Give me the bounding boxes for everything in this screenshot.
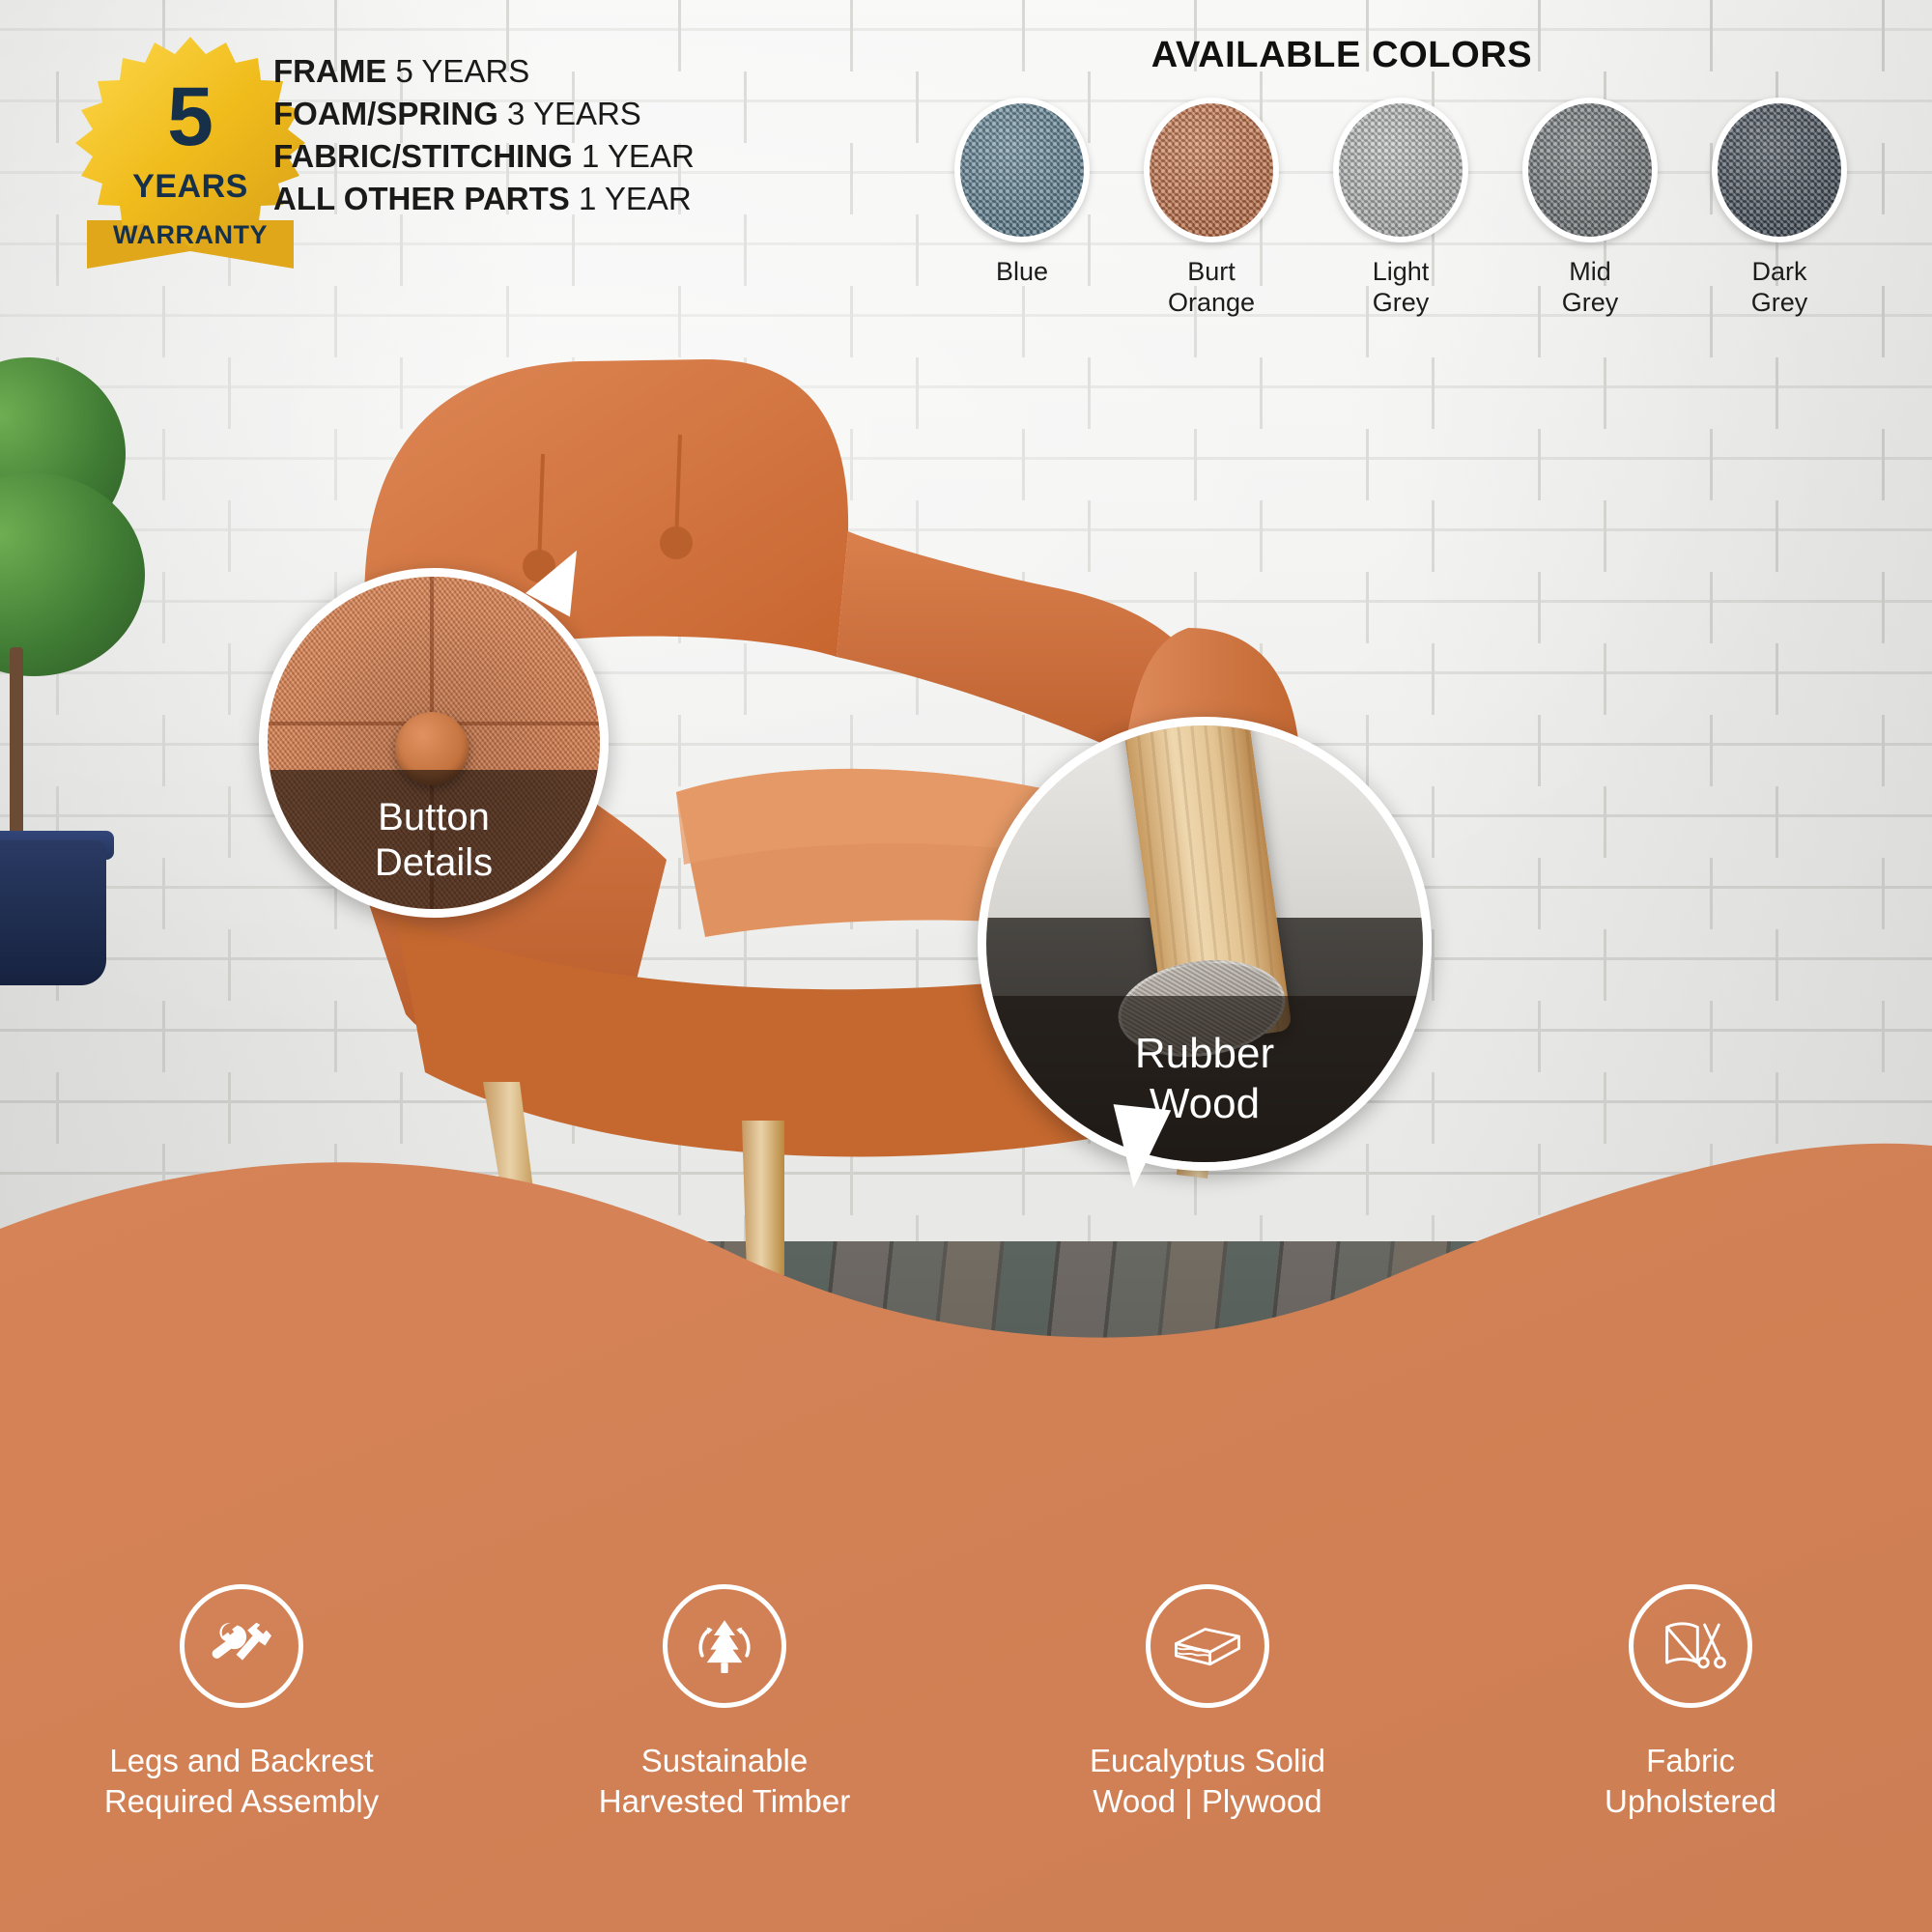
callout-rubber-wood-caption: RubberWood (986, 996, 1423, 1162)
feature-label: SustainableHarvested Timber (483, 1741, 966, 1822)
feature-item: SustainableHarvested Timber (483, 1584, 966, 1822)
available-colors-title: AVAILABLE COLORS (811, 35, 1893, 76)
callout-rubber-wood-pointer (1105, 1104, 1171, 1191)
callout-button-details: ButtonDetails (259, 568, 609, 918)
warranty-row-label: ALL OTHER PARTS (273, 181, 570, 216)
color-swatch[interactable]: BurtOrange (1130, 98, 1293, 319)
warranty-row-label: FOAM/SPRING (273, 96, 498, 131)
color-swatch[interactable]: DarkGrey (1698, 98, 1861, 319)
color-swatch-label: Blue (941, 256, 1103, 287)
feature-item: Legs and BackrestRequired Assembly (0, 1584, 483, 1822)
color-swatch-label: BurtOrange (1130, 256, 1293, 319)
fabric-scissors-icon (1629, 1584, 1752, 1708)
warranty-row-value: 5 YEARS (386, 53, 529, 89)
color-swatch-label: LightGrey (1320, 256, 1482, 319)
color-swatch[interactable]: MidGrey (1509, 98, 1671, 319)
plywood-slab-icon (1146, 1584, 1269, 1708)
tools-icon (180, 1584, 303, 1708)
color-swatch-dot[interactable] (1333, 98, 1468, 242)
color-swatch[interactable]: Blue (941, 98, 1103, 319)
potted-plant-decoration (0, 357, 174, 976)
color-swatch-dot[interactable] (1522, 98, 1658, 242)
color-swatch-dot[interactable] (1144, 98, 1279, 242)
badge-warranty-label: WARRANTY (70, 220, 311, 250)
warranty-row-value: 3 YEARS (498, 96, 641, 131)
feature-item: Eucalyptus SolidWood | Plywood (966, 1584, 1449, 1822)
warranty-row: FABRIC/STITCHING 1 YEAR (273, 135, 776, 178)
warranty-terms-list: FRAME 5 YEARSFOAM/SPRING 3 YEARSFABRIC/S… (273, 50, 776, 220)
infographic-canvas: 5 YEARS WARRANTY FRAME 5 YEARSFOAM/SPRIN… (0, 0, 1932, 1932)
color-swatch-dot[interactable] (954, 98, 1090, 242)
warranty-row-label: FRAME (273, 53, 386, 89)
color-swatch-label: MidGrey (1509, 256, 1671, 319)
tree-recycle-icon (663, 1584, 786, 1708)
feature-label: Legs and BackrestRequired Assembly (0, 1741, 483, 1822)
warranty-row: FRAME 5 YEARS (273, 50, 776, 93)
warranty-row-value: 1 YEAR (573, 138, 695, 174)
warranty-row: ALL OTHER PARTS 1 YEAR (273, 178, 776, 220)
color-swatch-row: BlueBurtOrangeLightGreyMidGreyDarkGrey (811, 98, 1893, 319)
feature-item: FabricUpholstered (1449, 1584, 1932, 1822)
feature-strip: Legs and BackrestRequired AssemblySustai… (0, 1584, 1932, 1822)
warranty-row-label: FABRIC/STITCHING (273, 138, 573, 174)
warranty-row-value: 1 YEAR (570, 181, 692, 216)
color-swatch[interactable]: LightGrey (1320, 98, 1482, 319)
available-colors-section: AVAILABLE COLORS BlueBurtOrangeLightGrey… (811, 35, 1893, 319)
feature-label: FabricUpholstered (1449, 1741, 1932, 1822)
callout-rubber-wood: RubberWood (978, 717, 1432, 1171)
color-swatch-label: DarkGrey (1698, 256, 1861, 319)
warranty-row: FOAM/SPRING 3 YEARS (273, 93, 776, 135)
feature-label: Eucalyptus SolidWood | Plywood (966, 1741, 1449, 1822)
callout-button-details-caption: ButtonDetails (268, 770, 600, 909)
color-swatch-dot[interactable] (1712, 98, 1847, 242)
